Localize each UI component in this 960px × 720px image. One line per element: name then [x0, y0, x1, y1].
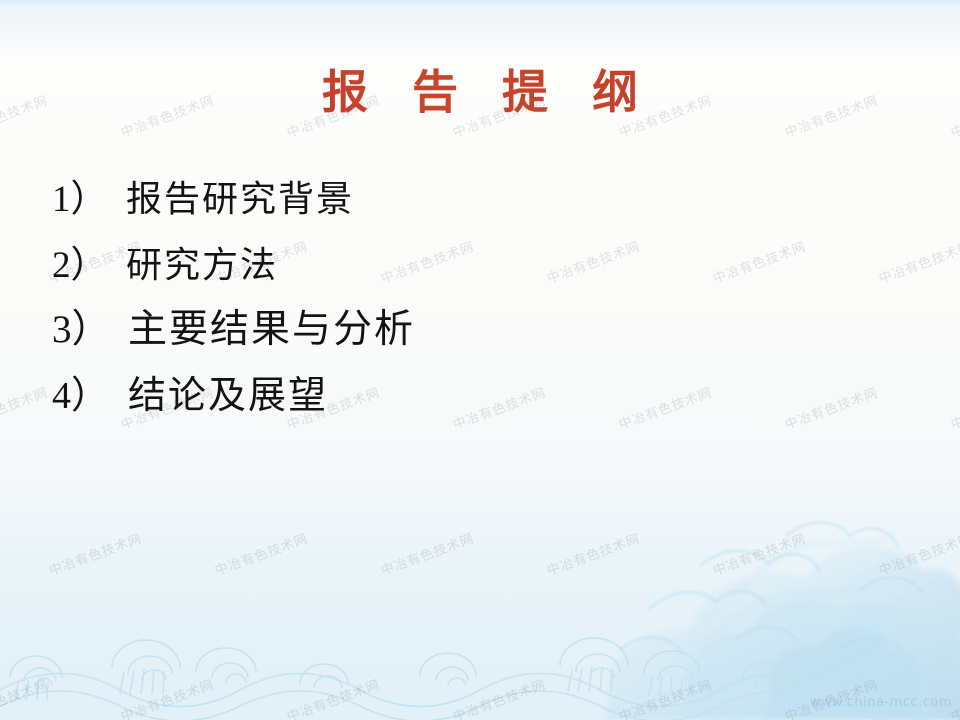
list-item-number: 1）	[52, 168, 126, 222]
watermark-text: 中冶有色技术网	[782, 382, 881, 433]
watermark-text: 中冶有色技术网	[378, 528, 477, 579]
outline-list: 1） 报告研究背景 2） 研究方法 3） 主要结果与分析 4） 结论及展望	[52, 168, 692, 428]
watermark-text: 中冶有色技术网	[876, 236, 960, 287]
watermark-text: 中冶有色技术网	[450, 674, 549, 720]
list-item[interactable]: 3） 主要结果与分析	[52, 298, 692, 364]
watermark-text: 中冶有色技术网	[212, 528, 311, 579]
list-item[interactable]: 2） 研究方法	[52, 234, 692, 298]
list-item-label: 结论及展望	[128, 364, 328, 419]
watermark-text: 中冶有色技术网	[544, 528, 643, 579]
page-title: 报 告 提 纲	[0, 64, 960, 120]
list-item-number: 4）	[52, 364, 128, 419]
list-item-label: 主要结果与分析	[128, 298, 415, 354]
watermark-text: 中冶有色技术网	[0, 674, 50, 720]
watermark-text: 中冶有色技术网	[948, 382, 960, 433]
list-item-number: 3）	[52, 298, 128, 354]
watermark-text: 中冶有色技术网	[284, 674, 383, 720]
list-item-number: 2）	[52, 234, 126, 288]
watermark-text: 中冶有色技术网	[0, 382, 50, 433]
watermark-text: 中冶有色技术网	[616, 674, 715, 720]
watermark-text: 中冶有色技术网	[876, 528, 960, 579]
list-item[interactable]: 1） 报告研究背景	[52, 168, 692, 234]
watermark-text: 中冶有色技术网	[118, 674, 217, 720]
corner-url-watermark: www.china-mcc.com	[810, 695, 952, 710]
watermark-text: 中冶有色技术网	[710, 236, 809, 287]
list-item-label: 报告研究背景	[126, 170, 354, 222]
presentation-slide: 中冶有色技术网中冶有色技术网中冶有色技术网中冶有色技术网中冶有色技术网中冶有色技…	[0, 0, 960, 720]
list-item-label: 研究方法	[126, 236, 278, 288]
list-item[interactable]: 4） 结论及展望	[52, 364, 692, 428]
watermark-text: 中冶有色技术网	[46, 528, 145, 579]
watermark-text: 中冶有色技术网	[710, 528, 809, 579]
